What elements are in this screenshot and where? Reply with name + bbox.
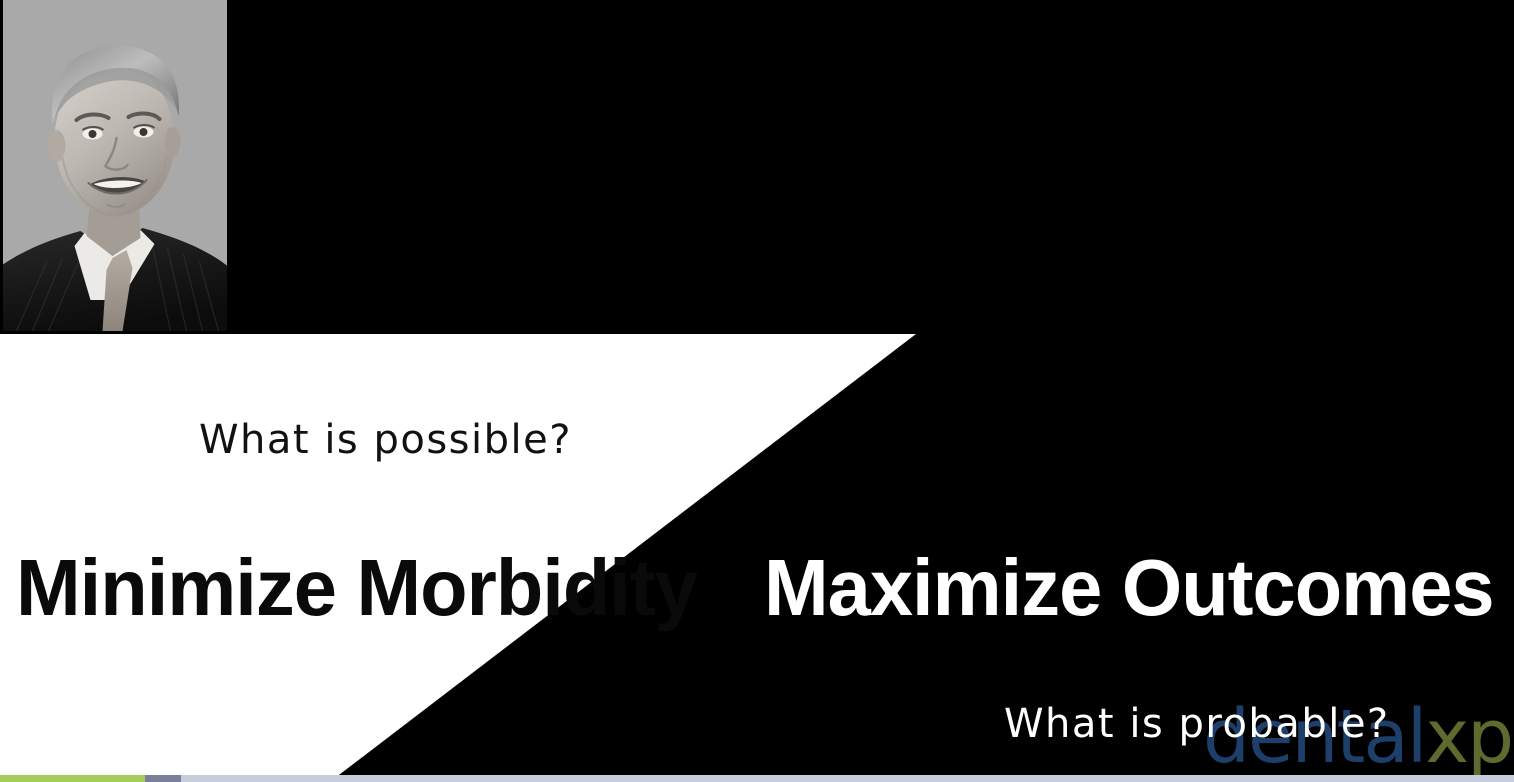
presentation-slide: What is possible? Minimize Morbidity Max… [0, 0, 1514, 782]
question-probable: What is probable? [1004, 704, 1390, 744]
progress-remaining-track[interactable] [181, 775, 1514, 782]
headline-minimize-morbidity: Minimize Morbidity [16, 548, 697, 628]
progress-played-portion[interactable] [0, 775, 145, 782]
headline-maximize-outcomes: Maximize Outcomes [764, 548, 1494, 628]
progress-handle[interactable] [145, 775, 181, 782]
video-progress-bar[interactable] [0, 775, 1514, 782]
portrait-image [3, 0, 227, 331]
speaker-portrait [3, 0, 228, 331]
watermark-xp-text: xp [1425, 694, 1512, 780]
question-possible: What is possible? [199, 420, 572, 460]
